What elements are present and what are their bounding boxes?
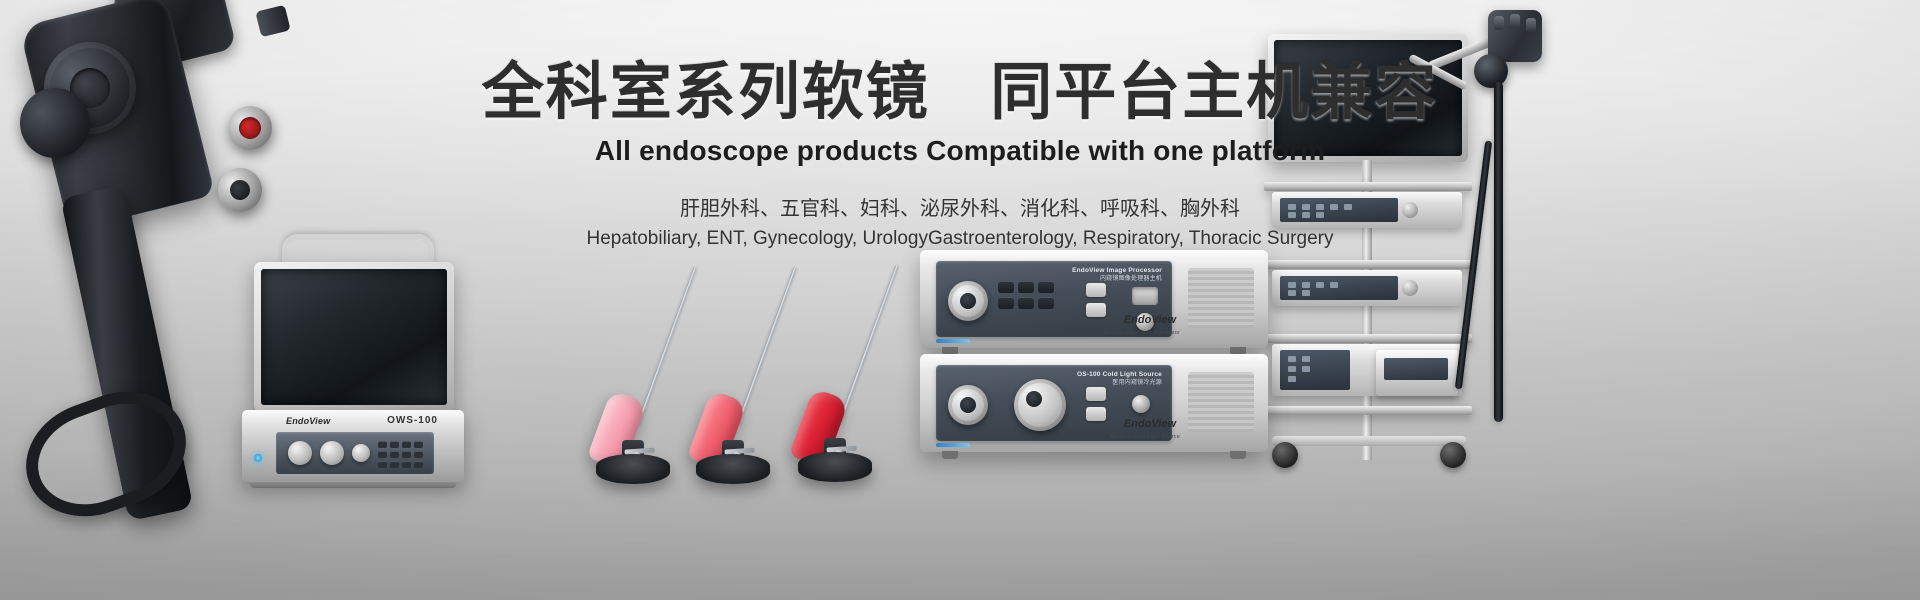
light-source-brightness-knob	[1014, 379, 1066, 431]
workstation-base-unit: EndoView OWS-100	[242, 410, 464, 482]
workstation-knob-2	[320, 441, 344, 465]
banner-specialties-cn: 肝胆外科、五官科、妇科、泌尿外科、消化科、呼吸科、胸外科	[0, 196, 1920, 222]
instrument-stand	[596, 454, 670, 484]
workstation-knob-3	[352, 444, 370, 462]
banner-headline: 全科室系列软镜 同平台主机兼容	[0, 58, 1920, 128]
processor-brand-sublabel: Endoscope Image Processor	[1104, 330, 1180, 336]
processor-brand-label: EndoView	[1124, 314, 1176, 326]
instrument-shaft	[838, 266, 898, 425]
workstation-model-label: OWS-100	[387, 415, 438, 426]
trolley-unit-3-panel	[1280, 350, 1350, 390]
workstation-power-led-icon	[254, 454, 262, 462]
workstation-knob-1	[288, 441, 312, 465]
processor-square-button-1	[1086, 283, 1106, 297]
trolley-wheel-left-icon	[1272, 442, 1298, 468]
endoscopy-product-banner: EndoView OWS-100	[0, 0, 1920, 600]
processor-square-button-2	[1086, 303, 1106, 317]
light-source-indicator-icon	[1132, 395, 1150, 413]
workstation-screen	[261, 269, 447, 405]
workstation-monitor	[254, 262, 454, 412]
banner-text-block: 全科室系列软镜 同平台主机兼容 All endoscope products C…	[0, 0, 1920, 251]
banner-subheadline: All endoscope products Compatible with o…	[0, 134, 1920, 168]
light-source-brand-label: EndoView	[1124, 418, 1176, 430]
light-source-feet	[942, 451, 1246, 459]
light-source-brand-sublabel: Medical Cold Light Source	[1111, 434, 1180, 440]
processor-accent-stripe	[936, 339, 970, 343]
instrument-stand	[798, 452, 872, 482]
light-source-button-2	[1086, 407, 1106, 421]
trolley-unit-2	[1272, 270, 1462, 306]
light-source-unit: OS-100 Cold Light Source 医用内窥镜冷光源 EndoVi…	[920, 354, 1268, 452]
processor-vent-grille	[1188, 268, 1254, 328]
instrument-stand	[696, 454, 770, 484]
processor-button-pad	[998, 281, 1076, 323]
trolley-unit-4-panel	[1384, 358, 1448, 380]
light-source-vent-grille	[1188, 372, 1254, 432]
workstation-foot	[250, 482, 456, 488]
trolley-unit-2-panel	[1280, 276, 1398, 300]
workstation-keypad	[378, 441, 424, 467]
trolley-unit-2-knob	[1402, 280, 1418, 296]
trolley-base	[1272, 436, 1466, 446]
ows-workstation-image: EndoView OWS-100	[236, 250, 468, 488]
light-source-accent-stripe	[936, 443, 970, 447]
trolley-wheel-right-icon	[1440, 442, 1466, 468]
light-source-panel-label: OS-100 Cold Light Source 医用内窥镜冷光源	[1077, 371, 1162, 387]
image-processor-unit: EndoView Image Processor 内窥镜图像处理器主机 Endo…	[920, 250, 1268, 348]
processor-main-knob	[948, 281, 988, 321]
light-source-button-1	[1086, 387, 1106, 401]
processor-stack-image: EndoView Image Processor 内窥镜图像处理器主机 Endo…	[920, 250, 1272, 470]
processor-usb-port-icon	[1132, 287, 1158, 305]
light-source-power-knob	[948, 385, 988, 425]
banner-specialties-en: Hepatobiliary, ENT, Gynecology, UrologyG…	[0, 226, 1920, 251]
rigid-instrument-red-image	[762, 256, 932, 486]
workstation-control-panel	[276, 432, 434, 474]
workstation-brand-label: EndoView	[286, 416, 330, 426]
headline-segment-1: 全科室系列软镜	[482, 58, 930, 127]
processor-panel-label: EndoView Image Processor 内窥镜图像处理器主机	[1072, 267, 1162, 283]
headline-segment-2: 同平台主机兼容	[990, 58, 1438, 127]
